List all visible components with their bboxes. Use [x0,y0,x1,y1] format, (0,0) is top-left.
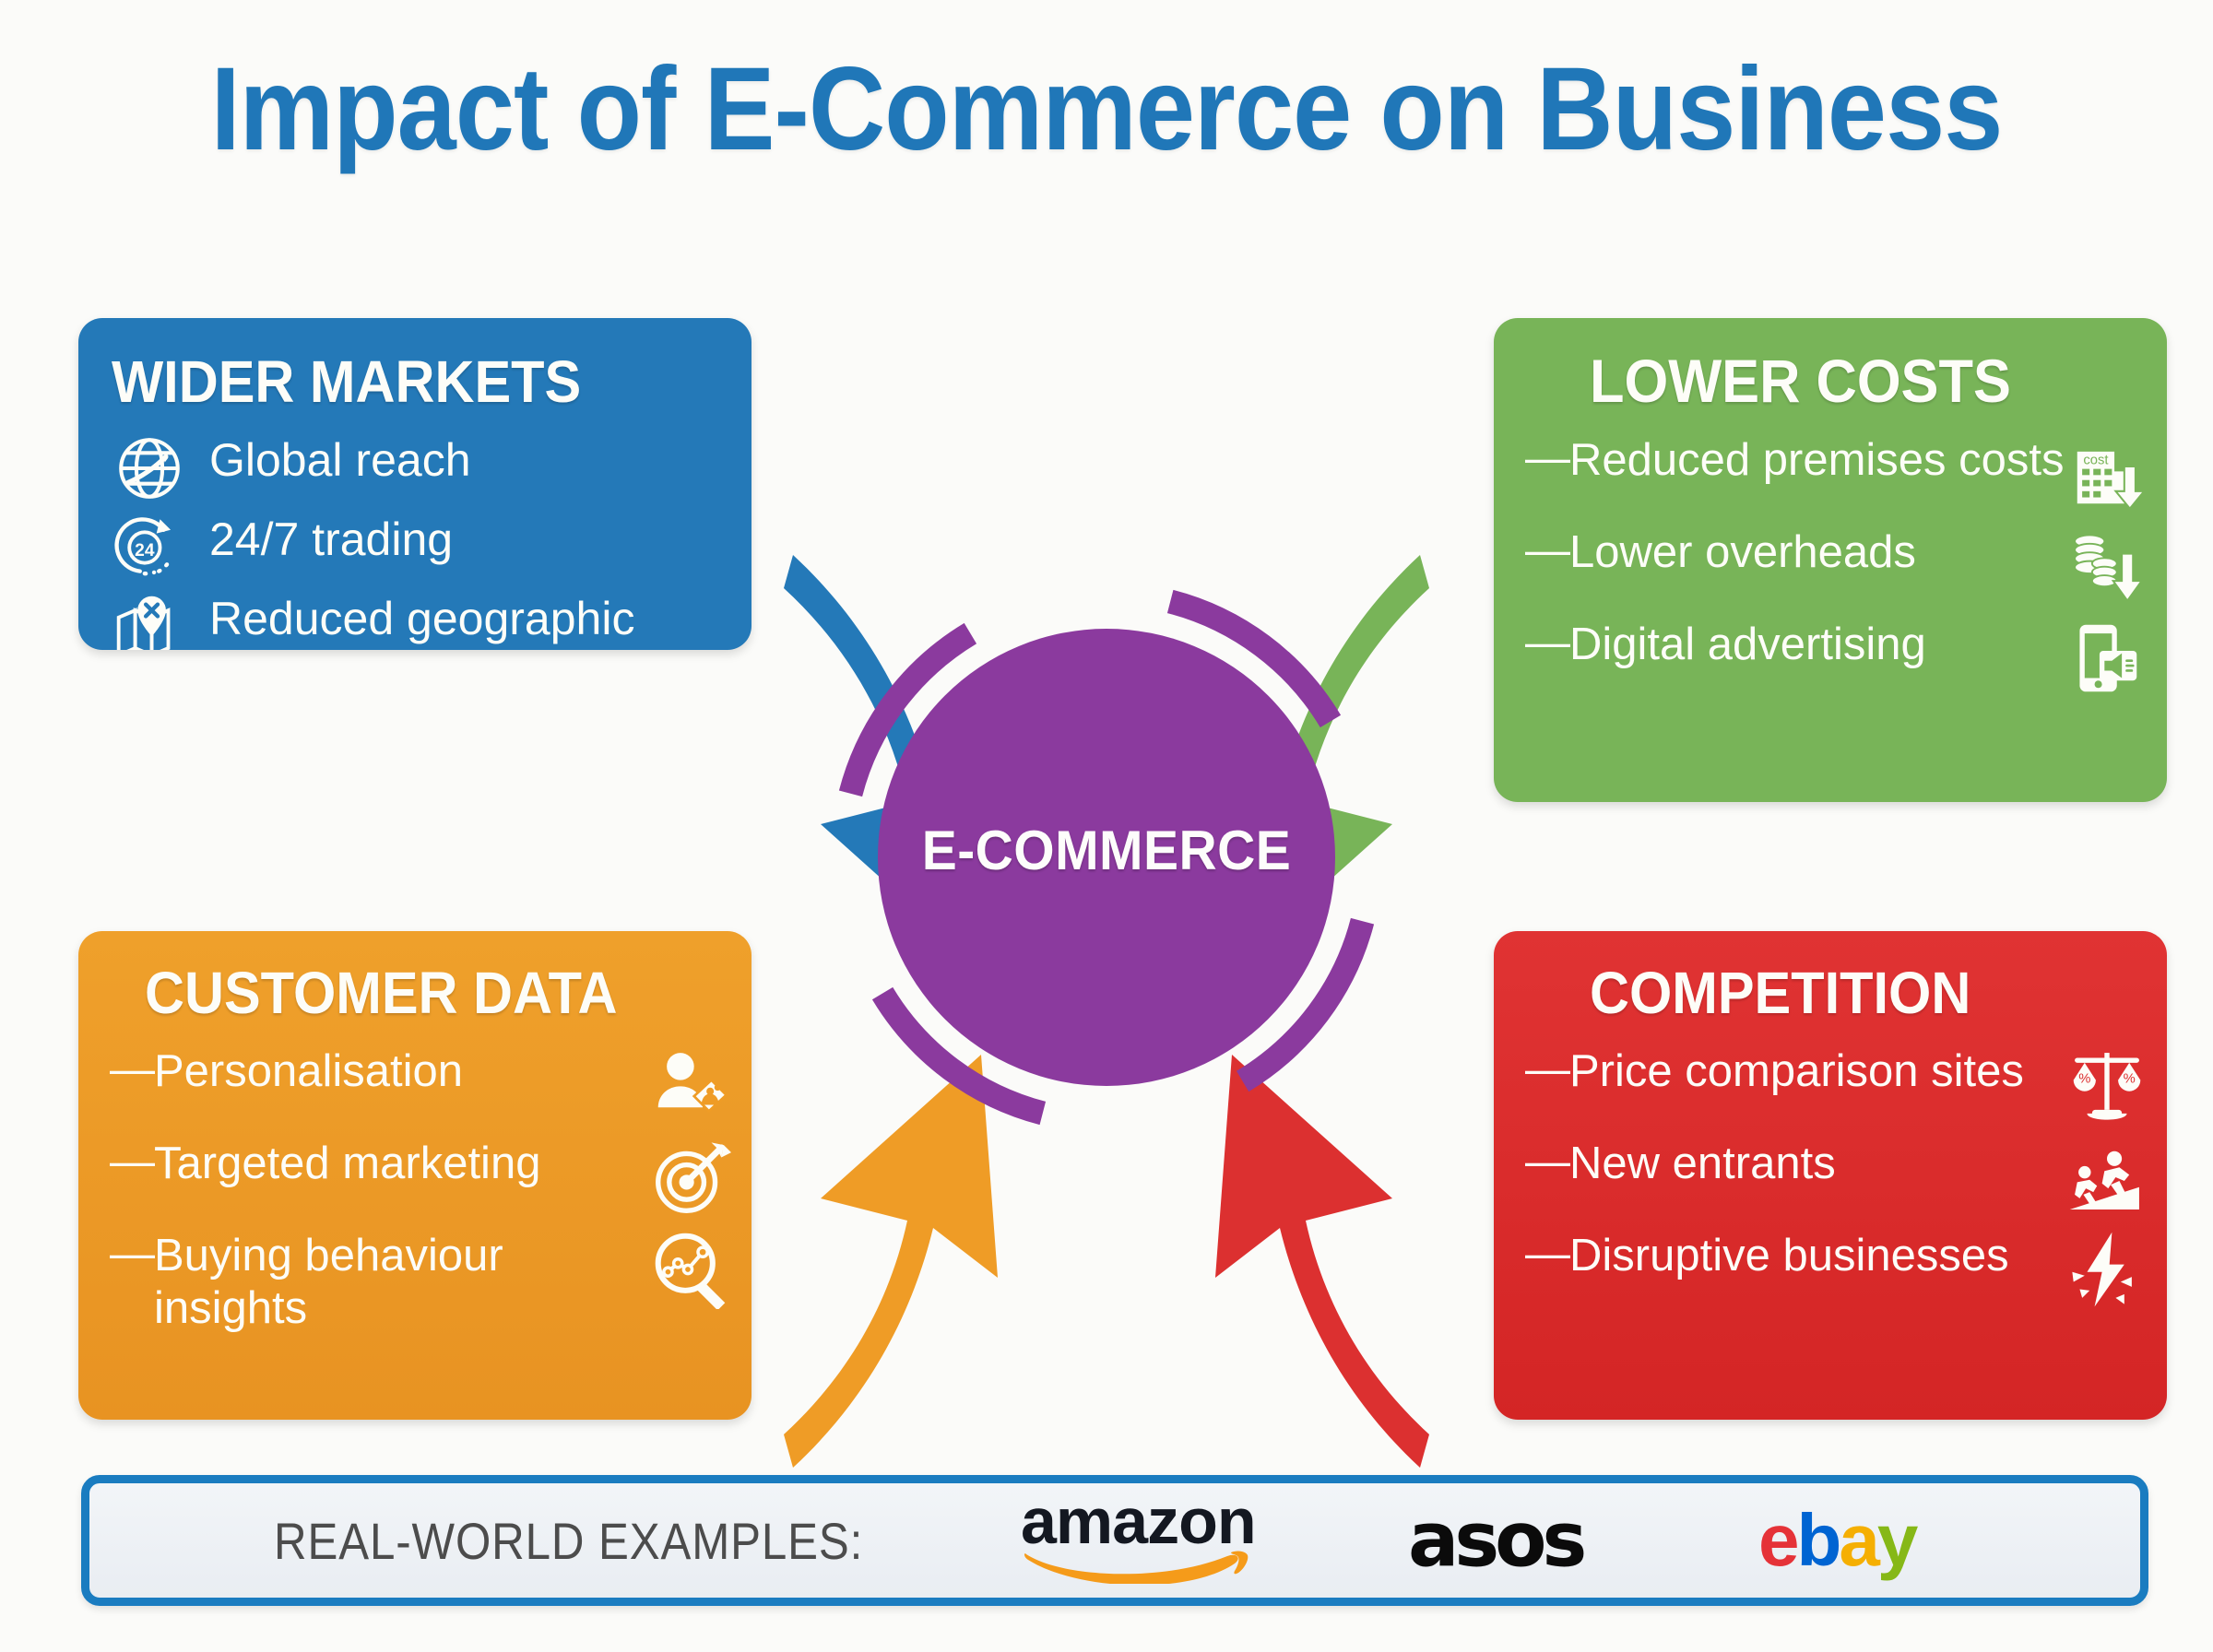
list-item-label: Reduced premises costs [1569,434,2067,487]
card-title-wider-markets: WIDER MARKETS [112,348,678,416]
hub-label: E-COMMERCE [844,819,1369,882]
bullet-list-competition: — Price comparison sites [1525,1045,2147,1309]
card-customer-data[interactable]: CUSTOMER DATA — Personalisation [78,931,751,1420]
phone-megaphone-icon [2067,619,2147,698]
dash-marker: — [1525,617,1566,669]
ebay-wordmark: ebay [1758,1499,1915,1581]
list-item: Reduced geographic barriers [112,593,720,650]
svg-text:cost: cost [2083,453,2108,467]
ebay-logo[interactable]: ebay [1758,1498,1915,1583]
list-item-label: Lower overheads [1569,526,2067,579]
list-item: — Price comparison sites [1525,1045,2147,1125]
card-lower-costs[interactable]: LOWER COSTS — Reduced premises costs cos… [1494,318,2167,802]
amazon-wordmark: amazon [1021,1493,1256,1551]
lightning-break-icon [2067,1230,2147,1309]
hub-ecommerce[interactable]: E-COMMERCE [830,581,1383,1134]
card-title-customer-data: CUSTOMER DATA [145,959,690,1027]
asos-wordmark: asos [1408,1497,1582,1585]
svg-text:24: 24 [135,541,155,560]
building-cost-down-icon: cost [2067,434,2147,513]
svg-text:%: % [2078,1071,2090,1086]
list-item: — New entrants [1525,1138,2147,1217]
dash-marker: — [1525,1136,1566,1188]
card-title-lower-costs: LOWER COSTS [1590,346,2108,416]
map-pin-icon [112,589,187,650]
ebay-letter-e: e [1758,1498,1797,1583]
list-item-label: Personalisation [154,1045,652,1098]
list-item-label: Disruptive businesses [1569,1230,2067,1282]
list-item-label: Global reach [209,434,720,487]
list-item-label: 24/7 trading [209,513,720,566]
scales-percent-icon: % % [2067,1045,2147,1125]
dash-marker: — [1525,1044,1566,1096]
list-item: — Disruptive businesses [1525,1230,2147,1309]
list-item: — Personalisation [110,1045,731,1125]
card-competition[interactable]: COMPETITION — Price comparison sites [1494,931,2167,1420]
runners-ramp-icon [2067,1138,2147,1217]
list-item: Global reach [112,434,720,506]
list-item: — Digital advertising [1525,619,2147,698]
list-item-label: Price comparison sites [1569,1045,2067,1098]
list-item-label: Buying behaviour insights [154,1230,652,1335]
target-arrow-icon [652,1138,731,1217]
list-item-label: Digital advertising [1569,619,2067,671]
list-item: — Reduced premises costs cost [1525,434,2147,513]
clock-24-7-icon: 24 [112,510,187,585]
list-item: 24 24/7 trading [112,513,720,585]
real-world-examples-bar: REAL-WORLD EXAMPLES: amazon asos ebay [81,1475,2148,1606]
bullet-list-wider-markets: Global reach 24 [112,434,720,650]
dash-marker: — [110,1044,150,1096]
globe-icon [112,431,187,506]
bullet-list-lower-costs: — Reduced premises costs cost [1525,434,2147,698]
list-item: — Buying behaviour insights [110,1230,731,1335]
page-title: Impact of E-Commerce on Business [111,48,2102,171]
card-wider-markets[interactable]: WIDER MARKETS Global reach [78,318,751,650]
examples-label: REAL-WORLD EXAMPLES: [274,1511,863,1571]
dash-marker: — [1525,1228,1566,1280]
amazon-logo[interactable]: amazon [1021,1493,1256,1588]
dash-marker: — [110,1228,150,1280]
list-item-label: Reduced geographic barriers [209,593,720,650]
ebay-letter-b: b [1797,1498,1840,1583]
coins-down-icon [2067,526,2147,606]
svg-text:%: % [2124,1071,2136,1086]
dash-marker: — [1525,525,1566,577]
magnifier-chart-icon [652,1230,731,1309]
dash-marker: — [1525,432,1566,485]
asos-logo[interactable]: asos [1408,1497,1582,1585]
list-item-label: New entrants [1569,1138,2067,1190]
list-item: — Lower overheads [1525,526,2147,606]
list-item: — Targeted marketing [110,1138,731,1217]
person-tag-icon [652,1045,731,1125]
dash-marker: — [110,1136,150,1188]
bullet-list-customer-data: — Personalisation — [110,1045,731,1335]
ebay-letter-a: a [1839,1498,1877,1583]
ebay-letter-y: y [1877,1498,1916,1583]
list-item-label: Targeted marketing [154,1138,652,1190]
card-title-competition: COMPETITION [1590,959,2108,1027]
